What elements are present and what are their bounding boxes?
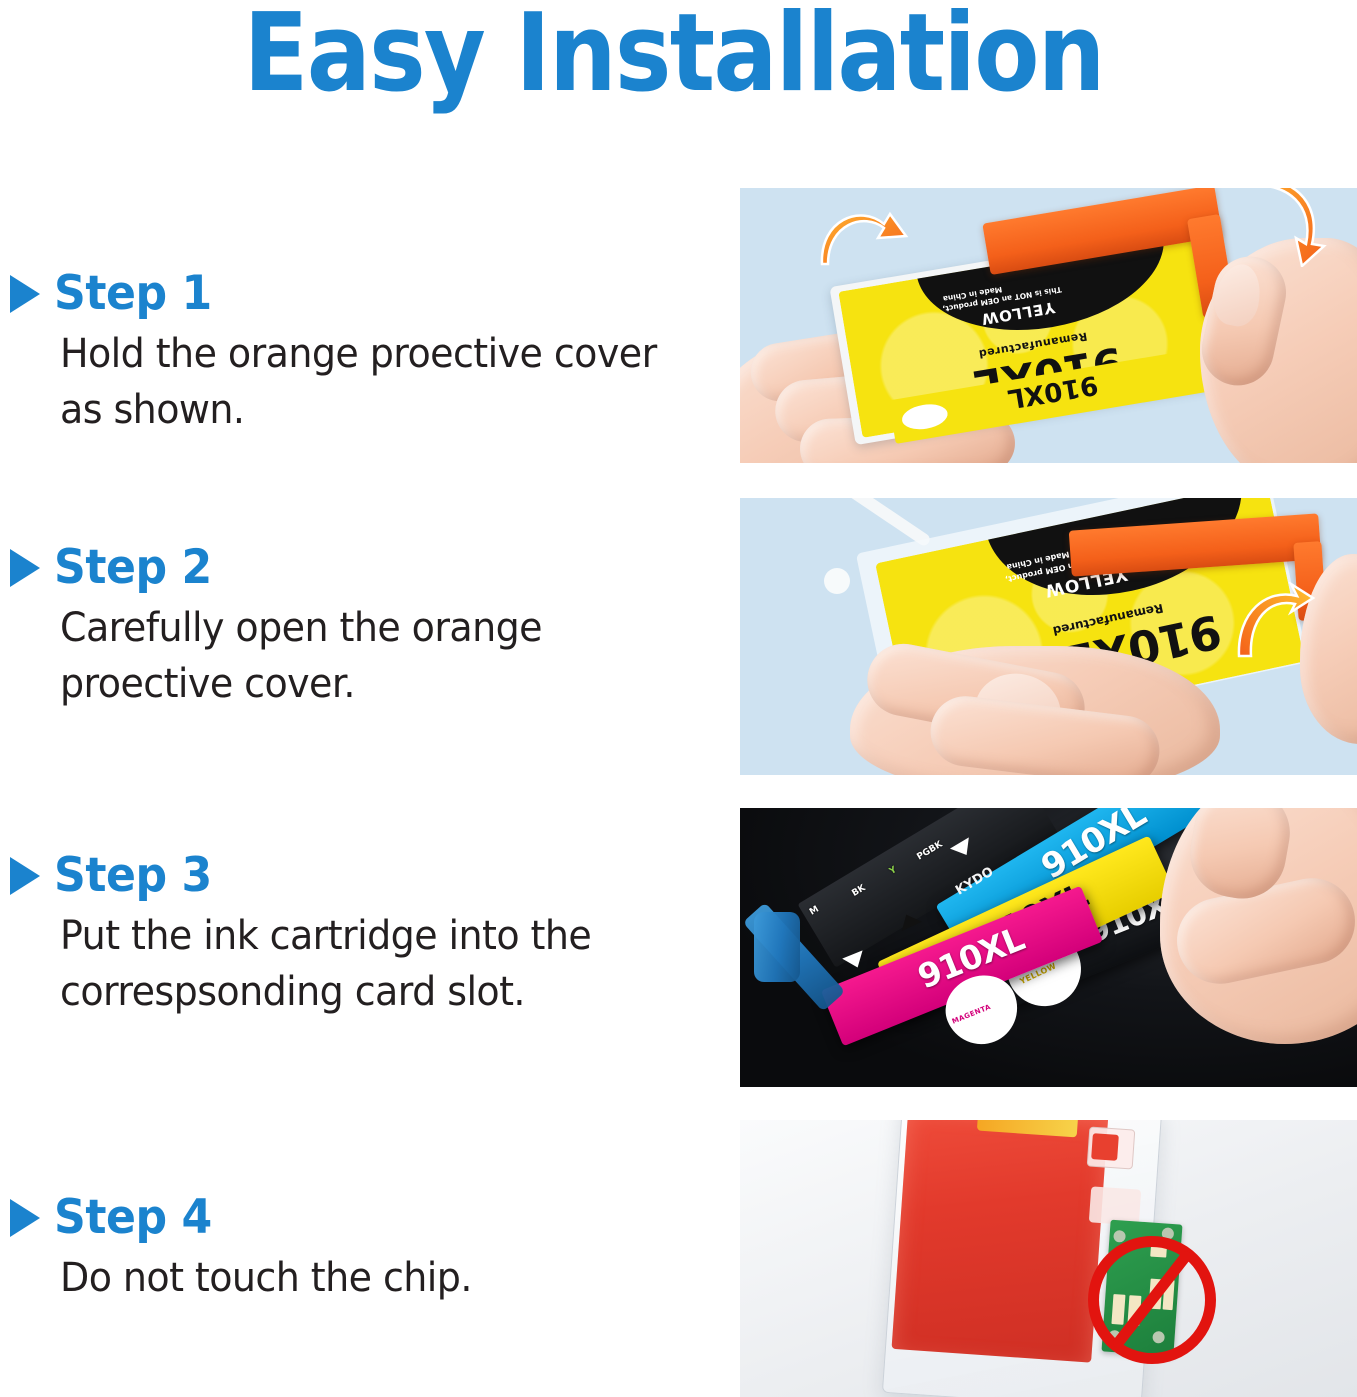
step-2-title: Step 2: [54, 542, 212, 594]
step-4-body: Do not touch the chip.: [60, 1250, 668, 1306]
carriage-latch: [754, 912, 800, 982]
infographic-page: Easy Installation Step 1 Hold the orange…: [0, 0, 1357, 1397]
ink-reservoir: [892, 1120, 1109, 1363]
triangle-right-icon: [10, 275, 40, 313]
triangle-right-icon: [10, 857, 40, 895]
chip-via: [1113, 1230, 1126, 1243]
step-2-header: Step 2: [8, 542, 708, 594]
step-item-4: Step 4 Do not touch the chip.: [8, 1192, 708, 1306]
curved-arrow-icon: [1240, 188, 1330, 267]
cartridge-color-name: MAGENTA: [951, 1003, 992, 1026]
panel-step-2: Made in China This is NOT an OEM product…: [740, 498, 1357, 775]
cartridge-indicator: [1091, 1133, 1119, 1161]
page-title: Easy Installation: [77, 0, 1271, 112]
triangle-right-icon: [10, 1199, 40, 1237]
steps-list: Step 1 Hold the orange proective cover a…: [0, 150, 720, 1390]
panel-step-1: Made in China This is NOT an OEM product…: [740, 188, 1357, 463]
color-indicator-cap: [900, 401, 949, 432]
step-2-body: Carefully open the orange proective cove…: [60, 600, 668, 712]
step-1-header: Step 1: [8, 268, 708, 320]
step-1-title: Step 1: [54, 268, 212, 320]
cartridge-vent-tip: [824, 568, 850, 594]
curved-arrow-icon: [820, 202, 910, 282]
curved-arrow-icon: [1235, 582, 1315, 662]
step-1-body: Hold the orange proective cover as shown…: [60, 326, 668, 438]
step-item-1: Step 1 Hold the orange proective cover a…: [8, 268, 708, 438]
step-item-3: Step 3 Put the ink cartridge into the co…: [8, 850, 708, 1020]
step-3-body: Put the ink cartridge into the correspso…: [60, 908, 668, 1020]
panel-step-3: M BK Y PGBK 910XL KYDO 910XL BLACK KYDO …: [740, 808, 1357, 1087]
step-4-header: Step 4: [8, 1192, 708, 1244]
step-4-title: Step 4: [54, 1192, 212, 1244]
panel-step-4: [740, 1120, 1357, 1397]
step-3-header: Step 3: [8, 850, 708, 902]
step-item-2: Step 2 Carefully open the orange proecti…: [8, 542, 708, 712]
triangle-right-icon: [10, 549, 40, 587]
step-3-title: Step 3: [54, 850, 212, 902]
